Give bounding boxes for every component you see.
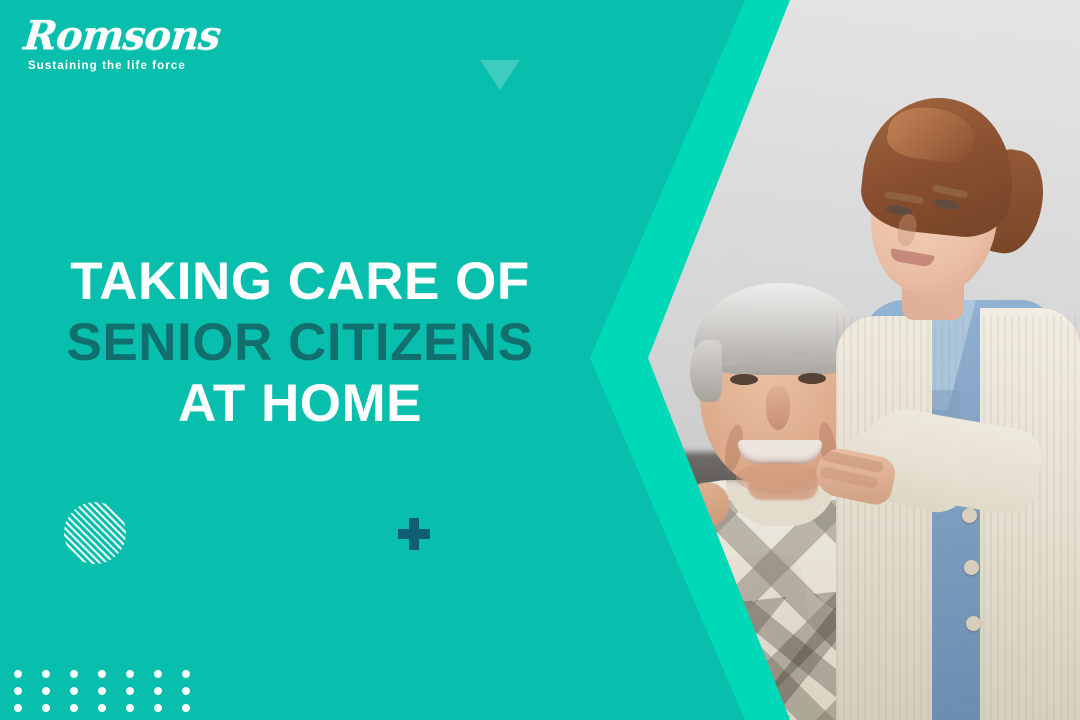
dot (42, 687, 50, 695)
dot (70, 670, 78, 678)
dot-grid-decoration (14, 670, 210, 720)
nurse-cardigan-button (962, 508, 977, 523)
man-hair-side-left (690, 340, 722, 402)
brand-logo-wordmark: Romsons (22, 16, 246, 56)
dot (182, 704, 190, 712)
dot (14, 704, 22, 712)
plus-icon (398, 518, 430, 550)
promotional-banner: Romsons Sustaining the life force TAKING… (0, 0, 1080, 720)
nurse-cardigan-button (966, 616, 981, 631)
brand-logo[interactable]: Romsons Sustaining the life force (24, 16, 244, 73)
man-chin (736, 462, 824, 494)
hatched-circle-icon (64, 502, 126, 564)
triangle-down-icon (480, 60, 520, 90)
dot (98, 670, 106, 678)
brand-tagline: Sustaining the life force (28, 61, 244, 73)
dot (98, 704, 106, 712)
dot (126, 704, 134, 712)
headline-line-2: SENIOR CITIZENS (0, 313, 600, 374)
dot (42, 704, 50, 712)
dot (98, 687, 106, 695)
dot (182, 670, 190, 678)
dot (154, 704, 162, 712)
man-smile (738, 440, 822, 464)
nurse-cardigan-knit-texture (836, 316, 1080, 720)
nurse-cardigan-button (964, 560, 979, 575)
dot (126, 687, 134, 695)
headline-block: TAKING CARE OF SENIOR CITIZENS AT HOME (0, 252, 600, 435)
dot (154, 687, 162, 695)
dot (14, 687, 22, 695)
man-nose (766, 386, 790, 430)
dot (70, 687, 78, 695)
man-eye-left (730, 374, 758, 385)
dot (182, 687, 190, 695)
headline-line-3: AT HOME (0, 374, 600, 435)
dot (14, 670, 22, 678)
man-eye-right (798, 373, 826, 384)
headline-line-1: TAKING CARE OF (0, 252, 600, 313)
dot (126, 670, 134, 678)
dot (70, 704, 78, 712)
dot (154, 670, 162, 678)
dot (42, 670, 50, 678)
